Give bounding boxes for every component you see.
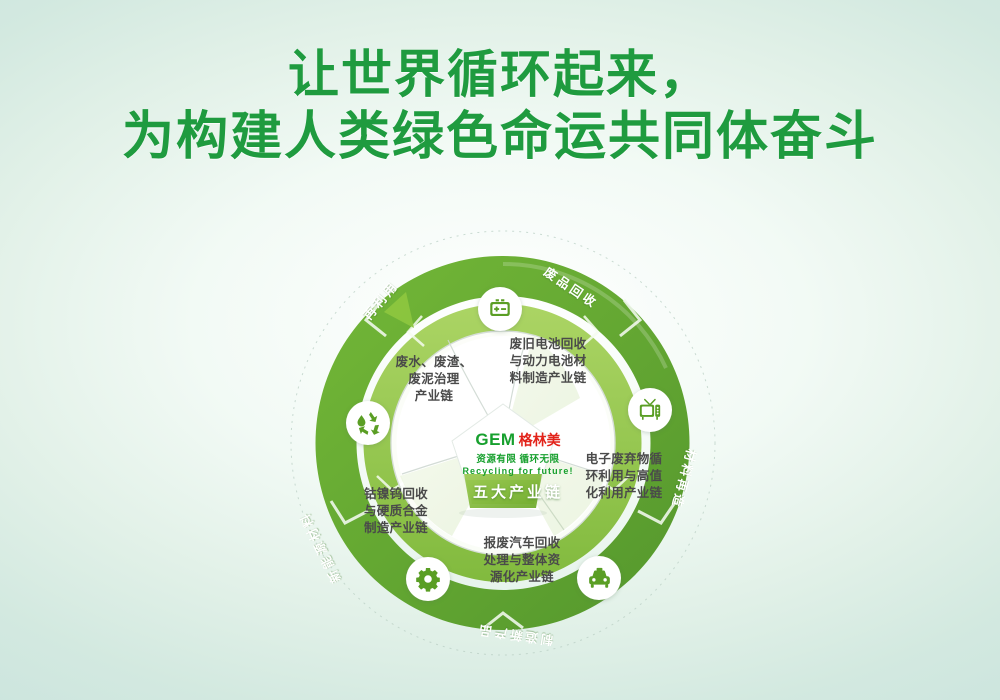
segment-battery-icon-badge[interactable] [478,287,522,331]
segment-battery-label: 废旧电池回收 与动力电池材 料制造产业链 [488,336,608,387]
gear-icon [415,566,441,592]
industry-chain-diagram: 废旧电池回收 与动力电池材 料制造产业链 电子废弃物循 环利用与高值 化利用产业… [288,208,718,678]
segment-ewaste-icon-badge[interactable] [628,388,672,432]
segment-wastewater-icon-badge[interactable] [346,401,390,445]
car-icon [586,565,613,592]
segment-alloy-icon-badge[interactable] [406,557,450,601]
logo-tagline-en: Recycling for future! [458,466,578,476]
gem-logo: GEM 格林美 资源有限 循环无限 Recycling for future! [458,430,578,476]
battery-icon [487,296,513,322]
segment-vehicle-label: 报废汽车回收 处理与整体资 源化产业链 [466,535,578,586]
logo-mark: GEM [475,430,515,450]
segment-alloy-label: 钴镍钨回收 与硬质合金 制造产业链 [340,486,452,537]
poster-canvas: 让世界循环起来， 为构建人类绿色命运共同体奋斗 [0,0,1000,700]
segment-wastewater-label: 废水、废渣、 废泥治理 产业链 [376,354,492,405]
logo-company-name-cn: 格林美 [519,430,561,450]
core-label: 五大产业链 [458,481,578,502]
tv-icon [637,397,663,423]
recycle-water-icon [354,409,382,437]
page-title: 让世界循环起来， 为构建人类绿色命运共同体奋斗 [0,44,1000,168]
title-line-2: 为构建人类绿色命运共同体奋斗 [0,106,1000,168]
title-line-1: 让世界循环起来， [0,44,1000,106]
segment-ewaste-label: 电子废弃物循 环利用与高值 化利用产业链 [570,451,678,502]
segment-vehicle-icon-badge[interactable] [577,556,621,600]
logo-slogan: 资源有限 循环无限 [458,451,578,465]
